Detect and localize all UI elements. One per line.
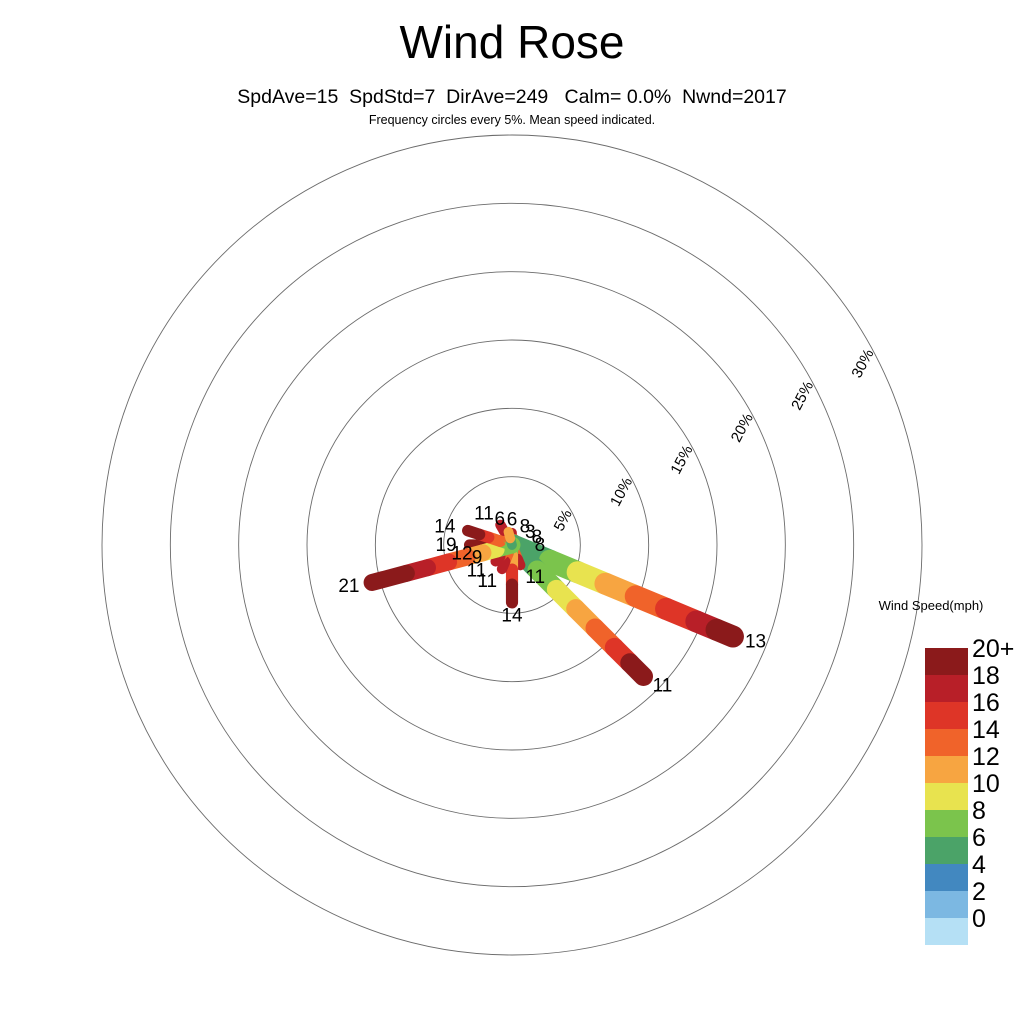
petal-mean-speed-label: 13	[745, 632, 766, 653]
petal-mean-speed-label: 11	[653, 676, 673, 697]
legend-swatch	[925, 864, 968, 891]
petal-mean-speed-label: 19	[435, 535, 456, 556]
legend-label: 8	[972, 798, 1023, 825]
legend-label: 12	[972, 744, 1023, 771]
legend-label: 4	[972, 852, 1023, 879]
legend-swatch	[925, 756, 968, 783]
legend-row: 0	[925, 918, 1023, 945]
petal-mean-speed-label: 6	[507, 510, 518, 531]
legend-swatch	[925, 729, 968, 756]
petal-segment	[717, 630, 733, 637]
legend-label: 20+	[972, 636, 1023, 663]
petal-segment	[468, 531, 480, 535]
petal-mean-speed-label: 21	[338, 576, 359, 597]
petal-segment	[630, 663, 644, 677]
legend-label: 10	[972, 771, 1023, 798]
legend-swatch	[925, 675, 968, 702]
legend-label: 0	[972, 906, 1023, 933]
petal-segment	[372, 573, 406, 582]
legend-swatch	[925, 702, 968, 729]
legend-swatch	[925, 918, 968, 945]
petal-mean-speed-label: 9	[472, 547, 483, 568]
petal-mean-speed-label: 6	[495, 509, 506, 530]
petal-segment	[518, 559, 521, 565]
legend-swatch	[925, 837, 968, 864]
legend-swatch	[925, 783, 968, 810]
legend-label: 14	[972, 717, 1023, 744]
wind-rose-figure: Wind Rose SpdAve=15 SpdStd=7 DirAve=249 …	[0, 0, 1024, 1024]
petal-mean-speed-label: 14	[501, 605, 523, 626]
legend-label: 6	[972, 825, 1023, 852]
legend-label: 2	[972, 879, 1023, 906]
ring-label: 5%	[551, 507, 576, 534]
legend-swatch	[925, 648, 968, 675]
legend-title: Wind Speed(mph)	[838, 598, 1024, 614]
petal-mean-speed-label: 11	[525, 567, 545, 588]
legend-swatch	[925, 891, 968, 918]
petal-segment	[502, 561, 505, 569]
petal-mean-speed-label: 8	[535, 535, 546, 556]
wind-speed-legend: 20+181614121086420	[925, 648, 1023, 945]
wind-rose-plot: 5%10%15%20%25%30% 6838813111114111191219…	[0, 0, 1024, 1024]
legend-swatch	[925, 810, 968, 837]
petal-segment	[508, 532, 510, 539]
petal-mean-speed-label: 11	[474, 504, 494, 525]
wind-petals	[372, 525, 733, 677]
legend-label: 18	[972, 663, 1023, 690]
legend-label: 16	[972, 690, 1023, 717]
petal-mean-speed-label: 14	[434, 517, 456, 538]
